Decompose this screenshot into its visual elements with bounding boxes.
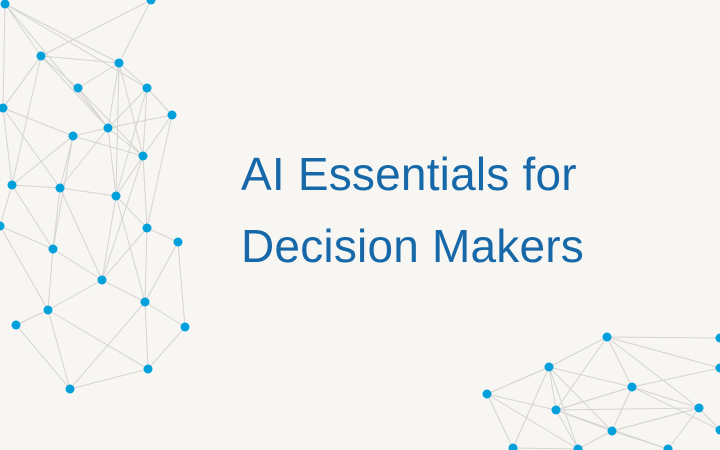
network-node (44, 306, 53, 315)
network-node (628, 383, 637, 392)
network-nodes (483, 333, 720, 450)
network-edges (0, 0, 185, 389)
network-node (12, 321, 21, 330)
network-node (574, 445, 583, 450)
network-node (509, 444, 518, 450)
network-node (147, 0, 156, 5)
network-node (139, 152, 148, 161)
network-node (174, 238, 183, 247)
network-node (0, 104, 8, 113)
title-line-2: Decision Makers (241, 210, 671, 282)
network-node (552, 406, 561, 415)
slide-canvas: AI Essentials for Decision Makers (0, 0, 720, 450)
network-node (98, 276, 107, 285)
network-node (8, 181, 17, 190)
network-node (483, 390, 492, 399)
network-node (115, 59, 124, 68)
network-node (695, 404, 704, 413)
network-node (0, 222, 5, 231)
network-node (664, 445, 673, 450)
network-node (545, 363, 554, 372)
network-node (56, 184, 65, 193)
network-node (143, 224, 152, 233)
network-node (143, 84, 152, 93)
title-line-1: AI Essentials for (241, 138, 671, 210)
network-node (181, 323, 190, 332)
network-node (1, 0, 10, 9)
network-node (69, 132, 78, 141)
network-node (144, 365, 153, 374)
network-node (104, 124, 113, 133)
network-node (716, 364, 720, 373)
network-node (37, 52, 46, 61)
network-node (168, 111, 177, 120)
network-node (141, 298, 150, 307)
page-title: AI Essentials for Decision Makers (241, 138, 671, 282)
network-edges (487, 337, 720, 449)
network-node (716, 426, 720, 435)
network-node (112, 192, 121, 201)
network-node (66, 385, 75, 394)
network-node (74, 84, 83, 93)
network-nodes (0, 0, 190, 394)
network-node (603, 333, 612, 342)
network-node (608, 427, 617, 436)
network-node (716, 334, 720, 343)
network-node (49, 245, 58, 254)
